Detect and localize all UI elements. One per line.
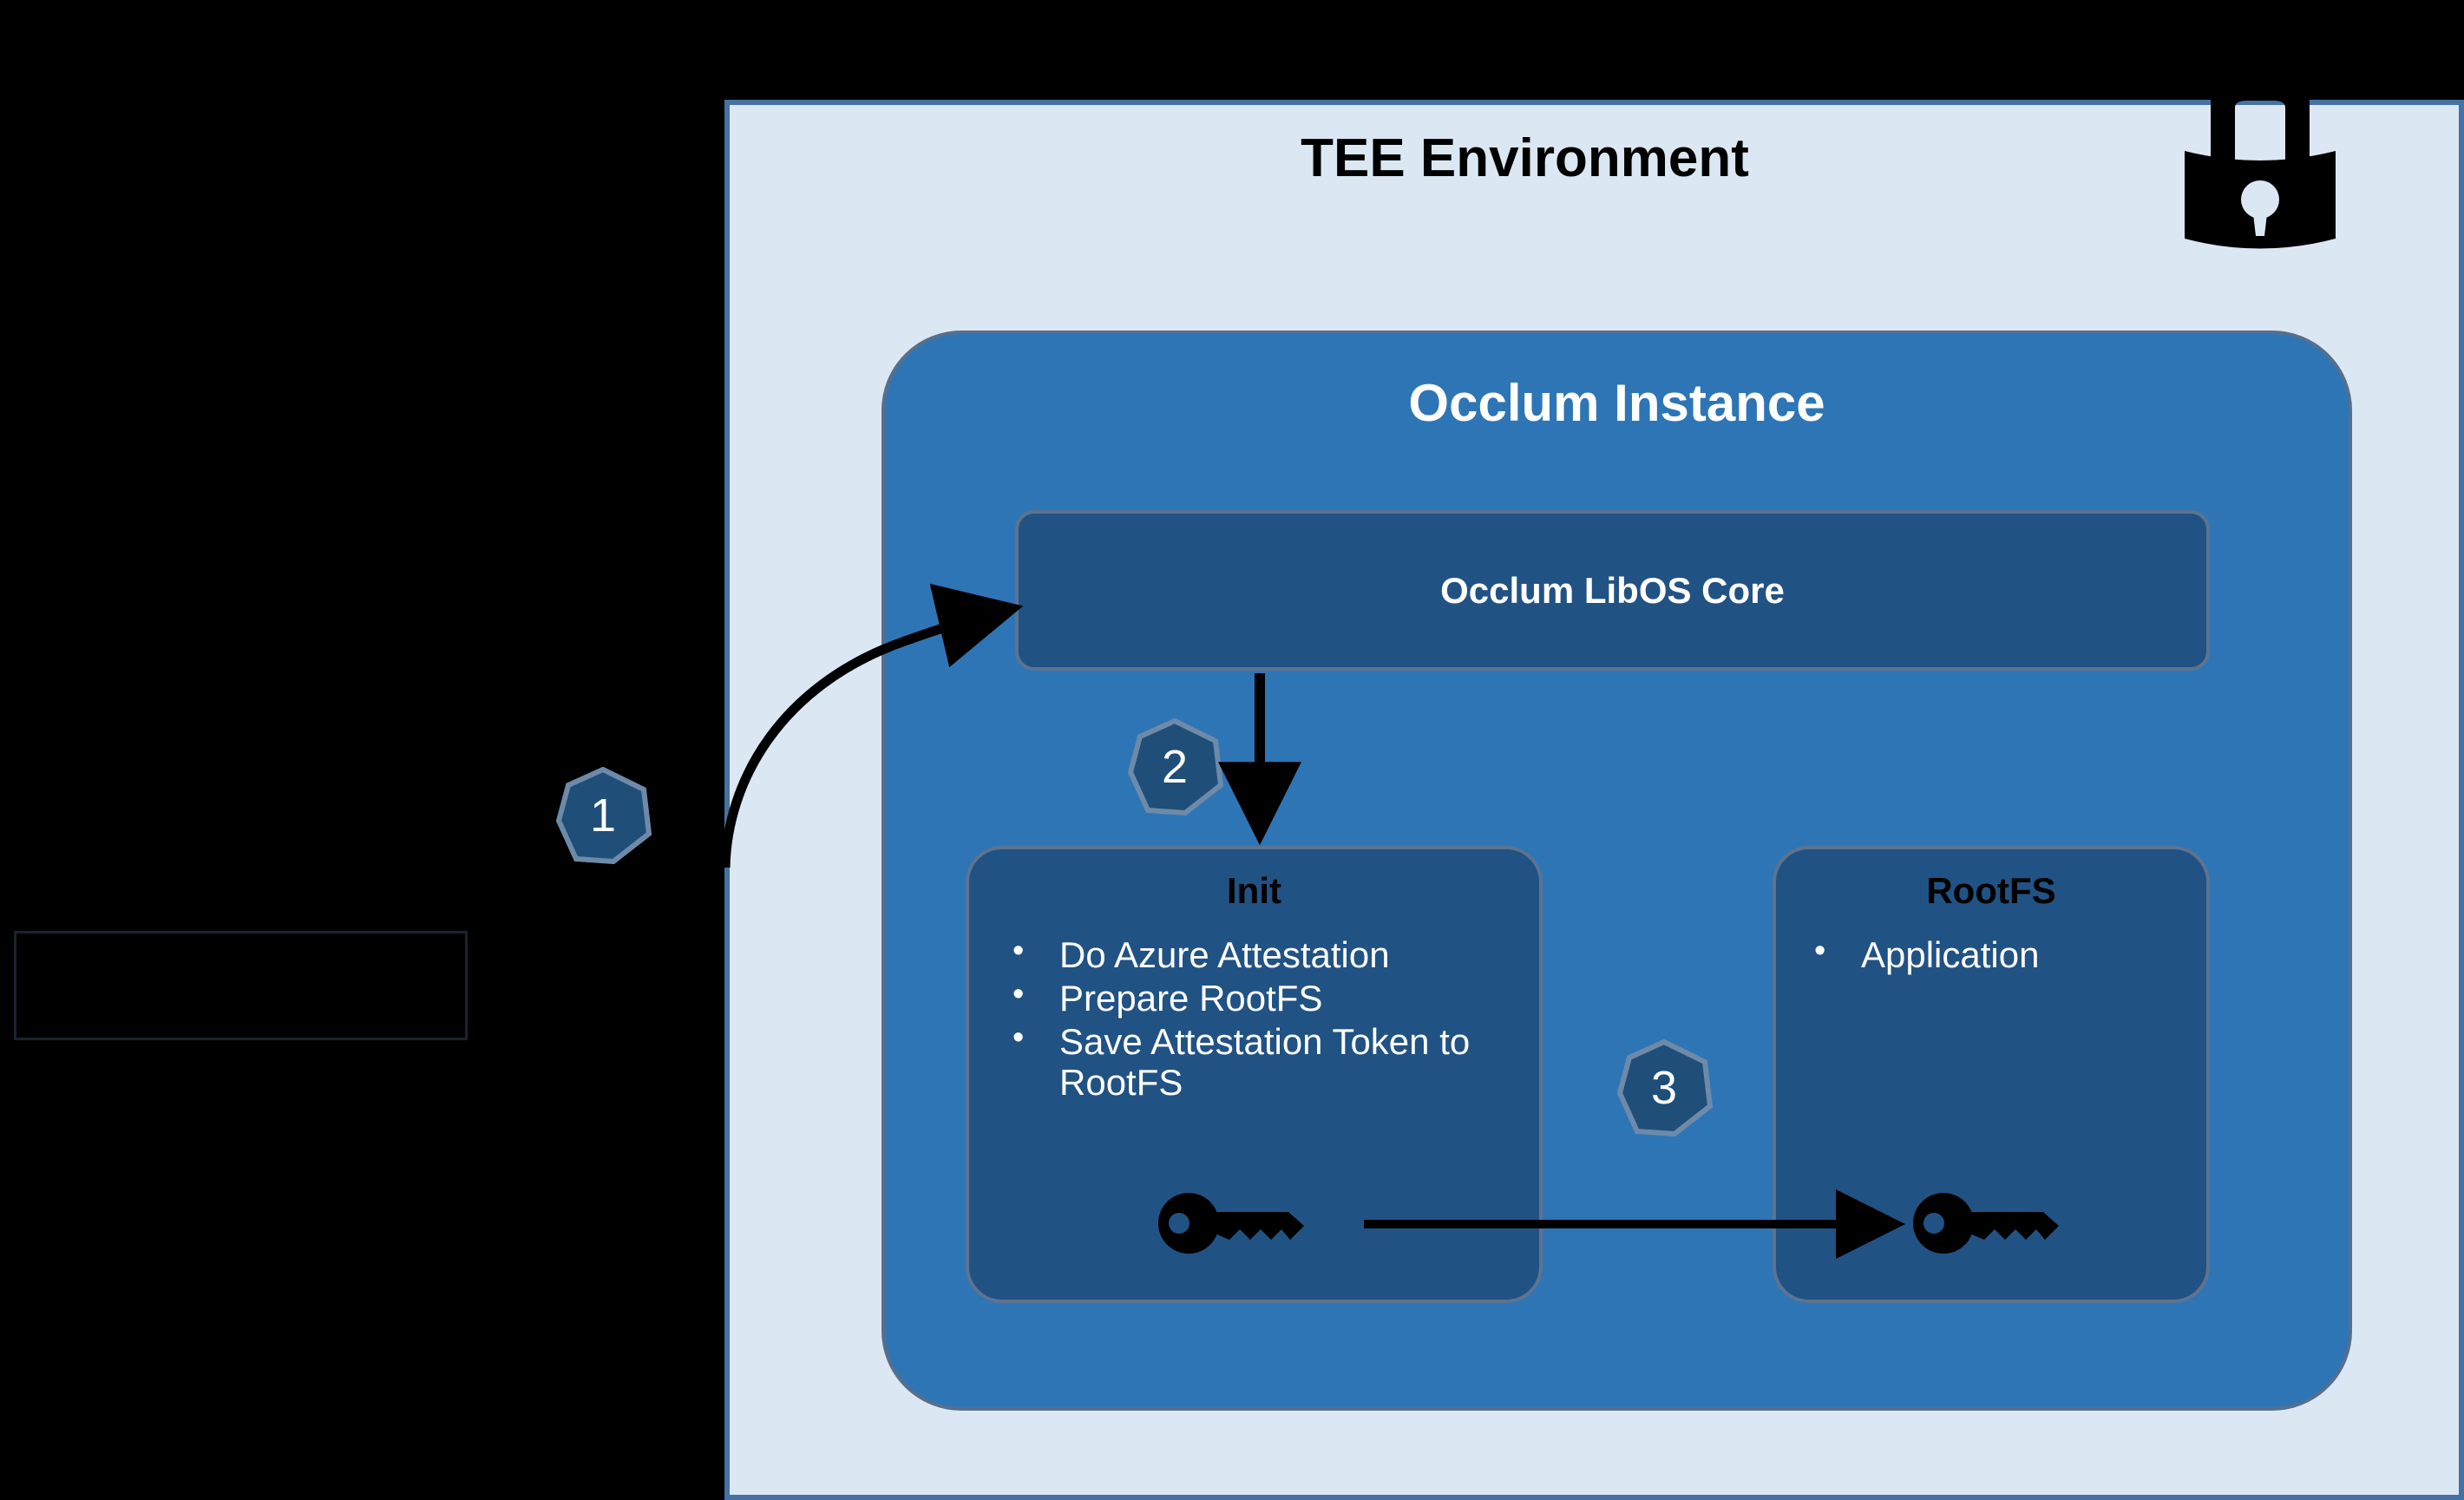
init-bullet-list: Do Azure Attestation Prepare RootFS Save…: [997, 934, 1526, 1105]
occlum-libos-core-box: Occlum LibOS Core: [1015, 510, 2210, 671]
init-title: Init: [969, 870, 1539, 912]
step-badge-2-number: 2: [1126, 718, 1223, 816]
step-badge-3-label-wrap: 3: [1615, 1039, 1713, 1136]
rootfs-title: RootFS: [1776, 870, 2206, 912]
left-placeholder-rect: [14, 931, 468, 1040]
step-badge-1-number: 1: [554, 767, 652, 864]
step-badge-3-number: 3: [1615, 1039, 1713, 1136]
occlum-libos-core-label: Occlum LibOS Core: [1440, 570, 1785, 612]
list-item: Application: [1799, 934, 2189, 975]
list-item: Save Attestation Token to RootFS: [997, 1021, 1526, 1103]
list-item: Do Azure Attestation: [997, 934, 1526, 975]
key-icon: [1158, 1193, 1314, 1254]
lock-icon: [2169, 85, 2351, 259]
rootfs-bullet-list: Application: [1799, 934, 2189, 975]
step-badge-2-label-wrap: 2: [1126, 718, 1223, 816]
occlum-instance-title: Occlum Instance: [885, 373, 2349, 433]
list-item: Prepare RootFS: [997, 978, 1526, 1019]
step-badge-1-label-wrap: 1: [554, 767, 652, 864]
key-icon: [1913, 1193, 2069, 1254]
